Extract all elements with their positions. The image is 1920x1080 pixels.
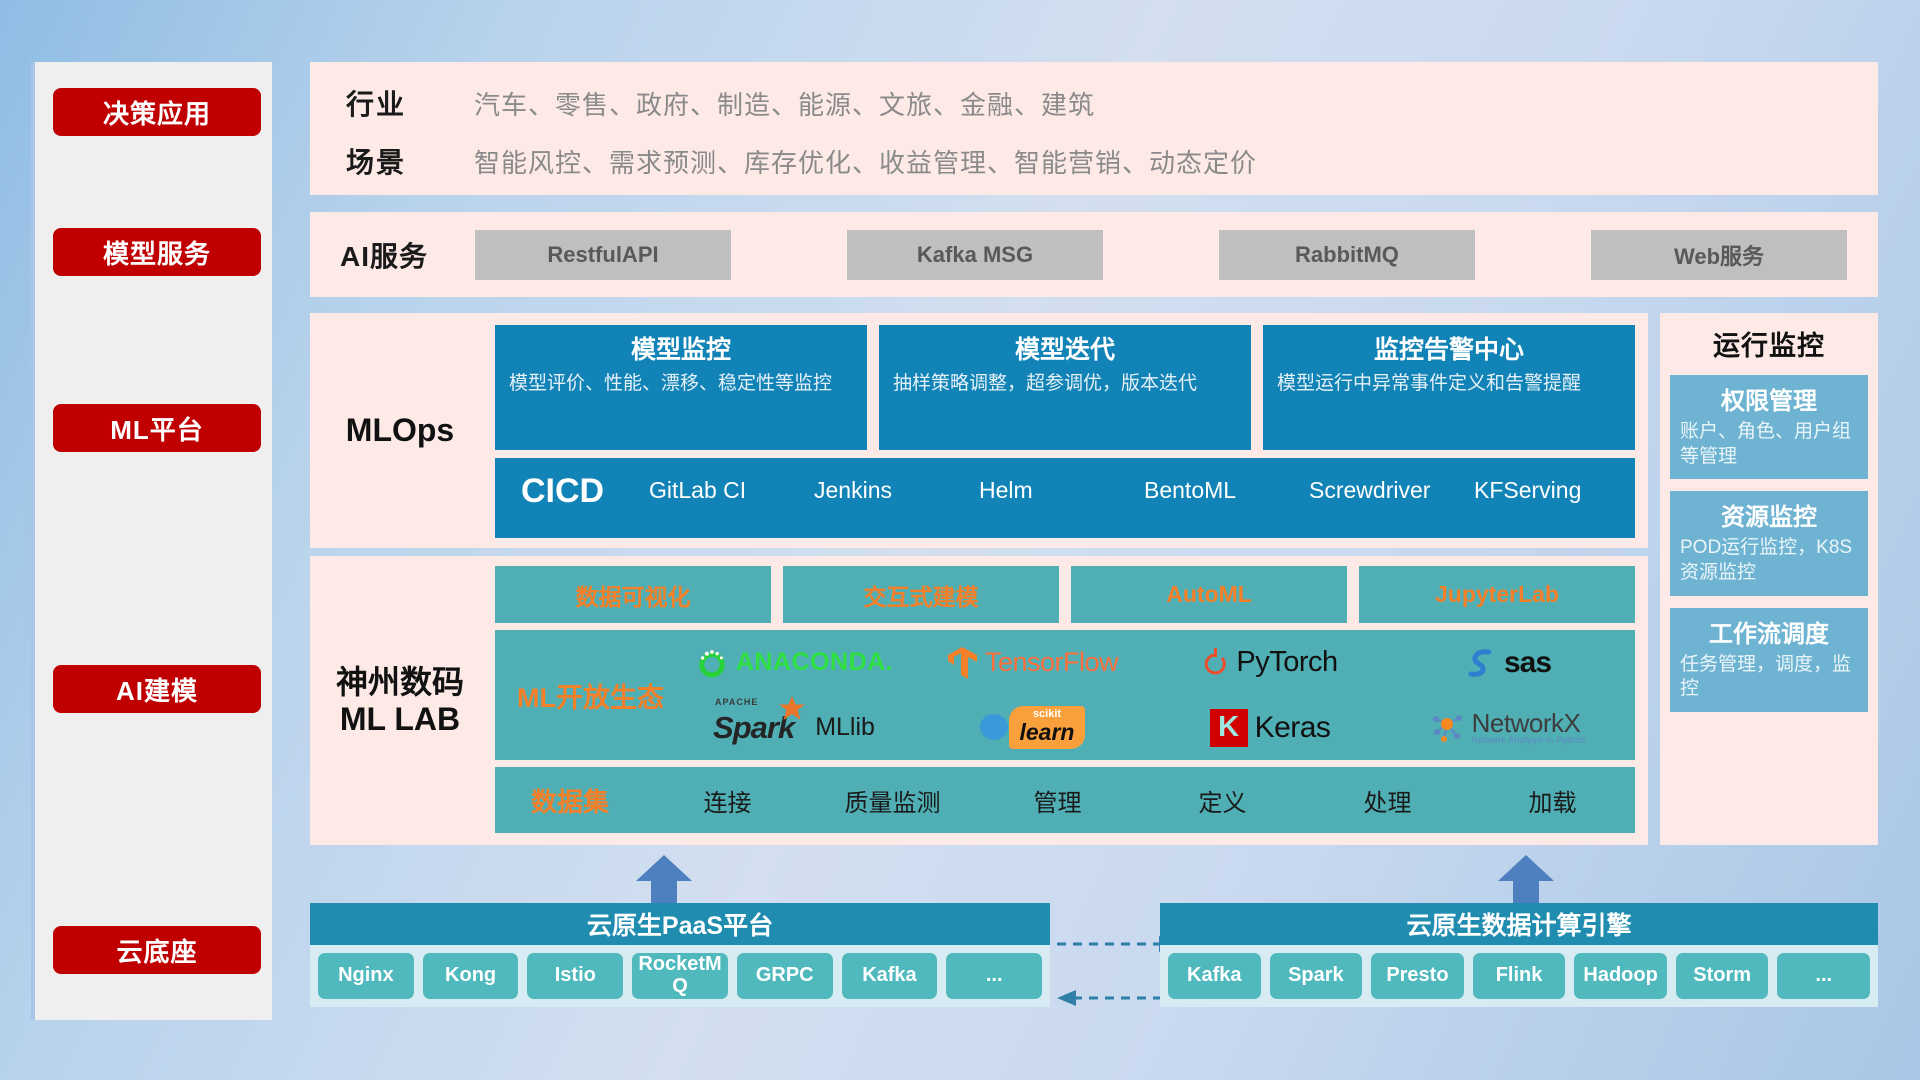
- pytorch-logo: PyTorch: [1202, 646, 1337, 679]
- dataset-label: 数据集: [495, 782, 645, 819]
- ai-service-items: RestfulAPI Kafka MSG RabbitMQ Web服务: [475, 212, 1865, 297]
- networkx-icon: [1431, 712, 1465, 744]
- up-arrow-data-engine-icon: [1498, 855, 1554, 905]
- pytorch-wordmark: PyTorch: [1236, 646, 1337, 679]
- tensorflow-logo: TensorFlow: [946, 645, 1118, 681]
- ai-service-label: AI服务: [340, 212, 470, 297]
- card-desc: 抽样策略调整，超参调优，版本迭代: [893, 371, 1237, 396]
- dataset-bar: 数据集 连接 质量监测 管理 定义 处理 加载: [495, 767, 1635, 833]
- layer-chip-ai-modeling[interactable]: AI建模: [53, 665, 261, 713]
- tensorflow-icon: [946, 645, 978, 681]
- networkx-logo: NetworkX Network Analysis in Python: [1431, 710, 1586, 745]
- ml-lab-tab-list: 数据可视化 交互式建模 AutoML JupyterLab: [495, 566, 1635, 623]
- industry-row: 行业 汽车、零售、政府、制造、能源、文旅、金融、建筑: [346, 74, 1095, 132]
- monitor-card-permission[interactable]: 权限管理 账户、角色、用户组等管理: [1670, 375, 1868, 479]
- keras-k-letter: K: [1218, 711, 1239, 744]
- cicd-bar: CICD GitLab CI Jenkins Helm BentoML Scre…: [495, 458, 1635, 538]
- card-title: 权限管理: [1680, 381, 1858, 416]
- ml-lab-label: 神州数码 ML LAB: [310, 556, 490, 845]
- pytorch-icon: [1202, 647, 1229, 679]
- dataset-item-process[interactable]: 处理: [1305, 783, 1470, 818]
- card-desc: 模型评价、性能、漂移、稳定性等监控: [509, 371, 853, 396]
- layer-chip-cloud-base[interactable]: 云底座: [53, 926, 261, 974]
- mlops-panel: MLOps 模型监控 模型评价、性能、漂移、稳定性等监控 模型迭代 抽样策略调整…: [310, 313, 1648, 548]
- anaconda-wordmark: ANACONDA.: [736, 648, 893, 677]
- networkx-tagline: Network Analysis in Python: [1472, 736, 1586, 745]
- scenario-values: 智能风控、需求预测、库存优化、收益管理、智能营销、动态定价: [474, 143, 1257, 180]
- dataset-item-quality[interactable]: 质量监测: [810, 783, 975, 818]
- scikit-learn-badge: scikit learn: [1009, 706, 1086, 749]
- data-engine-chip-spark[interactable]: Spark: [1270, 953, 1363, 999]
- cicd-item-helm[interactable]: Helm: [975, 458, 1140, 505]
- card-title: 模型迭代: [893, 335, 1237, 365]
- scikit-learn-logo: scikit learn: [979, 706, 1086, 749]
- mlops-card-list: 模型监控 模型评价、性能、漂移、稳定性等监控 模型迭代 抽样策略调整，超参调优，…: [495, 325, 1635, 450]
- tab-data-visualization[interactable]: 数据可视化: [495, 566, 771, 623]
- mlops-label: MLOps: [310, 313, 490, 548]
- ai-service-item-kafka-msg[interactable]: Kafka MSG: [847, 230, 1103, 280]
- layer-chip-model-service[interactable]: 模型服务: [53, 228, 261, 276]
- data-engine-chip-presto[interactable]: Presto: [1371, 953, 1464, 999]
- paas-platform-header: 云原生PaaS平台: [310, 903, 1050, 945]
- keras-icon: K: [1210, 709, 1248, 747]
- ml-lab-panel: 神州数码 ML LAB 数据可视化 交互式建模 AutoML JupyterLa…: [310, 556, 1648, 845]
- paas-platform-group: 云原生PaaS平台 Nginx Kong Istio RocketMQ GRPC…: [310, 903, 1050, 1007]
- cicd-item-gitlab-ci[interactable]: GitLab CI: [645, 458, 810, 505]
- cicd-item-bentoml[interactable]: BentoML: [1140, 458, 1305, 505]
- card-title: 监控告警中心: [1277, 335, 1621, 365]
- data-engine-chip-kafka[interactable]: Kafka: [1168, 953, 1261, 999]
- ai-service-item-web-service[interactable]: Web服务: [1591, 230, 1847, 280]
- paas-chip-istio[interactable]: Istio: [527, 953, 623, 999]
- card-title: 模型监控: [509, 335, 853, 365]
- cicd-item-jenkins[interactable]: Jenkins: [810, 458, 975, 505]
- card-desc: 账户、角色、用户组等管理: [1680, 420, 1858, 469]
- sas-icon: [1465, 646, 1497, 680]
- layer-chip-ml-platform[interactable]: ML平台: [53, 404, 261, 452]
- ml-ecosystem-label: ML开放生态: [495, 676, 675, 715]
- scenario-label: 场景: [346, 141, 474, 181]
- ai-service-panel: AI服务 RestfulAPI Kafka MSG RabbitMQ Web服务: [310, 212, 1878, 297]
- mlops-card-model-iteration[interactable]: 模型迭代 抽样策略调整，超参调优，版本迭代: [879, 325, 1251, 450]
- ml-ecosystem-band: ML开放生态 ANACONDA. TensorFlo: [495, 630, 1635, 760]
- paas-chip-grpc[interactable]: GRPC: [737, 953, 833, 999]
- data-engine-chip-flink[interactable]: Flink: [1473, 953, 1566, 999]
- networkx-wordmark: NetworkX: [1472, 710, 1586, 736]
- up-arrow-paas-icon: [636, 855, 692, 905]
- ai-service-item-rabbitmq[interactable]: RabbitMQ: [1219, 230, 1475, 280]
- industry-values: 汽车、零售、政府、制造、能源、文旅、金融、建筑: [474, 85, 1095, 122]
- decision-app-panel: 行业 汽车、零售、政府、制造、能源、文旅、金融、建筑 场景 智能风控、需求预测、…: [310, 62, 1878, 195]
- paas-chip-nginx[interactable]: Nginx: [318, 953, 414, 999]
- card-desc: 任务管理，调度，监控: [1680, 653, 1858, 702]
- industry-label: 行业: [346, 83, 474, 123]
- dataset-item-define[interactable]: 定义: [1140, 783, 1305, 818]
- ml-lab-label-line1: 神州数码: [336, 664, 464, 701]
- sas-wordmark: sas: [1504, 646, 1551, 680]
- ml-ecosystem-logo-grid: ANACONDA. TensorFlow PyTorch: [675, 630, 1635, 760]
- data-engine-chip-hadoop[interactable]: Hadoop: [1574, 953, 1667, 999]
- paas-chip-kafka[interactable]: Kafka: [842, 953, 938, 999]
- dataset-item-load[interactable]: 加载: [1470, 783, 1635, 818]
- data-engine-group: 云原生数据计算引擎 Kafka Spark Presto Flink Hadoo…: [1160, 903, 1878, 1007]
- data-engine-chip-storm[interactable]: Storm: [1676, 953, 1769, 999]
- card-title: 工作流调度: [1680, 614, 1858, 649]
- card-desc: 模型运行中异常事件定义和告警提醒: [1277, 371, 1621, 396]
- keras-wordmark: Keras: [1255, 711, 1331, 745]
- paas-chip-more[interactable]: ...: [946, 953, 1042, 999]
- data-engine-header: 云原生数据计算引擎: [1160, 903, 1878, 945]
- layer-rail: 决策应用 模型服务 ML平台 AI建模 云底座: [31, 62, 272, 1020]
- mllib-wordmark: MLlib: [815, 713, 875, 742]
- tensorflow-wordmark: TensorFlow: [985, 647, 1118, 678]
- dataset-item-manage[interactable]: 管理: [975, 783, 1140, 818]
- networkx-wordmark-block: NetworkX Network Analysis in Python: [1472, 710, 1586, 745]
- tab-interactive-modeling[interactable]: 交互式建模: [783, 566, 1059, 623]
- card-desc: POD运行监控，K8S资源监控: [1680, 536, 1858, 585]
- layer-chip-decision-app[interactable]: 决策应用: [53, 88, 261, 136]
- sas-logo: sas: [1465, 646, 1551, 680]
- scikit-blob-icon: [979, 712, 1009, 742]
- keras-logo: K Keras: [1210, 709, 1331, 747]
- runtime-monitor-panel: 运行监控 权限管理 账户、角色、用户组等管理 资源监控 POD运行监控，K8S资…: [1660, 313, 1878, 845]
- paas-chip-kong[interactable]: Kong: [423, 953, 519, 999]
- learn-word: learn: [1020, 720, 1075, 744]
- monitor-card-workflow[interactable]: 工作流调度 任务管理，调度，监控: [1670, 608, 1868, 712]
- spark-logo: APACHE Spark: [713, 710, 794, 746]
- paas-chip-rocketmq[interactable]: RocketMQ: [632, 953, 728, 999]
- architecture-diagram: 决策应用 模型服务 ML平台 AI建模 云底座 行业 汽车、零售、政府、制造、能…: [0, 0, 1920, 1080]
- card-title: 资源监控: [1680, 497, 1858, 532]
- dataset-item-connect[interactable]: 连接: [645, 783, 810, 818]
- cicd-item-kfserving[interactable]: KFServing: [1470, 458, 1635, 505]
- arrow-head-left-icon: [1057, 990, 1076, 1006]
- spark-apache-word: APACHE: [715, 697, 758, 707]
- mlops-card-model-monitoring[interactable]: 模型监控 模型评价、性能、漂移、稳定性等监控: [495, 325, 867, 450]
- anaconda-icon: [695, 646, 729, 680]
- anaconda-logo: ANACONDA.: [695, 646, 893, 680]
- runtime-monitor-title: 运行监控: [1660, 313, 1878, 363]
- mlops-card-alert-center[interactable]: 监控告警中心 模型运行中异常事件定义和告警提醒: [1263, 325, 1635, 450]
- spark-star-icon: [779, 696, 805, 722]
- ai-service-item-restfulapi[interactable]: RestfulAPI: [475, 230, 731, 280]
- cicd-item-screwdriver[interactable]: Screwdriver: [1305, 458, 1470, 505]
- scenario-row: 场景 智能风控、需求预测、库存优化、收益管理、智能营销、动态定价: [346, 132, 1257, 190]
- data-engine-chip-more[interactable]: ...: [1777, 953, 1870, 999]
- tab-automl[interactable]: AutoML: [1071, 566, 1347, 623]
- ml-lab-label-line2: ML LAB: [340, 701, 460, 738]
- data-engine-chip-list: Kafka Spark Presto Flink Hadoop Storm ..…: [1160, 945, 1878, 1007]
- tab-jupyterlab[interactable]: JupyterLab: [1359, 566, 1635, 623]
- spark-mllib-logo: APACHE Spark MLlib: [713, 710, 875, 746]
- paas-chip-list: Nginx Kong Istio RocketMQ GRPC Kafka ...: [310, 945, 1050, 1007]
- cicd-label: CICD: [495, 458, 645, 524]
- monitor-card-resource[interactable]: 资源监控 POD运行监控，K8S资源监控: [1670, 491, 1868, 595]
